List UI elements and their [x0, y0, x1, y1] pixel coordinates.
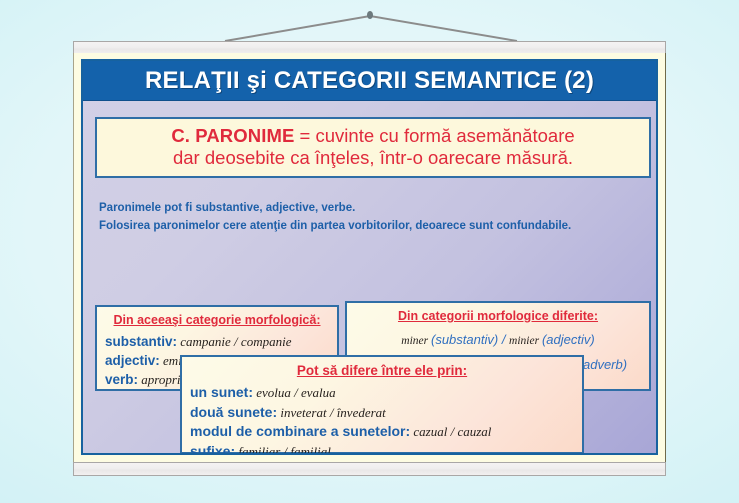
panel-differences: Pot să difere între ele prin: un sunet: … [180, 355, 584, 454]
definition-line-2: dar deosebite ca înţeles, într-o oarecar… [107, 147, 639, 169]
panel-right-word-0a: miner [401, 335, 431, 347]
panel-bottom-heading: Pot să difere între ele prin: [190, 363, 574, 378]
panel-bottom-example-3: familiar / familial [235, 444, 331, 456]
intro-line-2: Folosirea paronimelor cere atenţie din p… [99, 217, 655, 235]
panel-bottom-example-1: inveterat / învederat [277, 405, 386, 420]
panel-right-tag-0a: (substantiv) [431, 332, 498, 347]
poster-title-bar: RELAŢII şi CATEGORII SEMANTICE (2) [83, 61, 656, 101]
panel-bottom-label-3: sufixe: [190, 443, 235, 456]
list-item: substantiv: campanie / companie [105, 332, 329, 351]
list-item: modul de combinare a sunetelor: cazual /… [190, 422, 574, 442]
list-item: miner (substantiv) / minier (adjectiv) [355, 328, 641, 353]
definition-box: C. PARONIME = cuvinte cu formă asemănăto… [95, 117, 651, 178]
bottom-roller-bar [73, 462, 666, 476]
panel-right-word-0b: minier [509, 335, 542, 347]
intro-paragraph: Paronimele pot fi substantive, adjective… [99, 199, 655, 235]
intro-line-1: Paronimele pot fi substantive, adjective… [99, 199, 655, 217]
panel-right-sep-0: / [498, 332, 509, 347]
panel-left-label-0: substantiv: [105, 334, 177, 349]
definition-term-rest: = cuvinte cu formă asemănătoare [294, 125, 574, 146]
definition-term: C. PARONIME [171, 125, 294, 146]
nail-hook-icon [367, 11, 373, 19]
definition-line-1: C. PARONIME = cuvinte cu formă asemănăto… [107, 125, 639, 147]
list-item: un sunet: evolua / evalua [190, 383, 574, 403]
panel-left-label-1: adjectiv: [105, 353, 160, 368]
panel-bottom-example-2: cazual / cauzal [410, 424, 491, 439]
panel-bottom-label-2: modul de combinare a sunetelor: [190, 423, 410, 439]
list-item: două sunete: inveterat / învederat [190, 403, 574, 423]
panel-right-heading: Din categorii morfologice diferite: [355, 309, 641, 323]
panel-left-example-0: campanie / companie [177, 334, 291, 349]
panel-left-label-2: verb: [105, 372, 138, 387]
panel-bottom-example-0: evolua / evalua [253, 385, 336, 400]
panel-bottom-label-0: un sunet: [190, 384, 253, 400]
poster-frame: RELAŢII şi CATEGORII SEMANTICE (2) C. PA… [73, 53, 666, 462]
list-item: sufixe: familiar / familial [190, 442, 574, 456]
panel-bottom-label-1: două sunete: [190, 404, 277, 420]
panel-right-tag-0b: (adjectiv) [542, 332, 595, 347]
poster-content-area: RELAŢII şi CATEGORII SEMANTICE (2) C. PA… [81, 59, 658, 455]
page-title: RELAŢII şi CATEGORII SEMANTICE (2) [145, 67, 594, 95]
panel-left-heading: Din aceeaşi categorie morfologică: [105, 313, 329, 327]
